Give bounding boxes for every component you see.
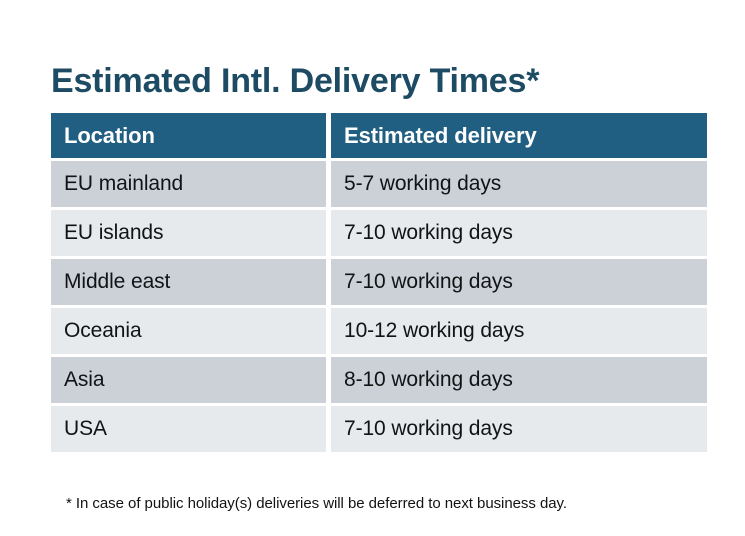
page-title: Estimated Intl. Delivery Times* (51, 59, 539, 103)
cell-location: USA (51, 406, 326, 452)
cell-delivery: 8-10 working days (331, 357, 707, 403)
table-row: Oceania 10-12 working days (51, 308, 707, 354)
cell-delivery: 5-7 working days (331, 161, 707, 207)
cell-delivery: 7-10 working days (331, 406, 707, 452)
table-row: Middle east 7-10 working days (51, 259, 707, 305)
column-header-location: Location (51, 113, 326, 158)
table-row: EU mainland 5-7 working days (51, 161, 707, 207)
cell-location: EU islands (51, 210, 326, 256)
table-row: EU islands 7-10 working days (51, 210, 707, 256)
delivery-times-page: Estimated Intl. Delivery Times* Location… (0, 0, 745, 536)
column-header-estimated-delivery: Estimated delivery (331, 113, 707, 158)
cell-delivery: 7-10 working days (331, 259, 707, 305)
cell-location: EU mainland (51, 161, 326, 207)
table-body: EU mainland 5-7 working days EU islands … (51, 161, 707, 452)
table-row: USA 7-10 working days (51, 406, 707, 452)
footnote-text: * In case of public holiday(s) deliverie… (66, 494, 567, 514)
cell-location: Asia (51, 357, 326, 403)
cell-location: Oceania (51, 308, 326, 354)
delivery-table-wrapper: Location Estimated delivery EU mainland … (46, 110, 697, 455)
cell-location: Middle east (51, 259, 326, 305)
table-row: Asia 8-10 working days (51, 357, 707, 403)
cell-delivery: 10-12 working days (331, 308, 707, 354)
table-header-row: Location Estimated delivery (51, 113, 707, 158)
cell-delivery: 7-10 working days (331, 210, 707, 256)
table-header: Location Estimated delivery (51, 113, 707, 158)
delivery-times-table: Location Estimated delivery EU mainland … (46, 110, 712, 455)
